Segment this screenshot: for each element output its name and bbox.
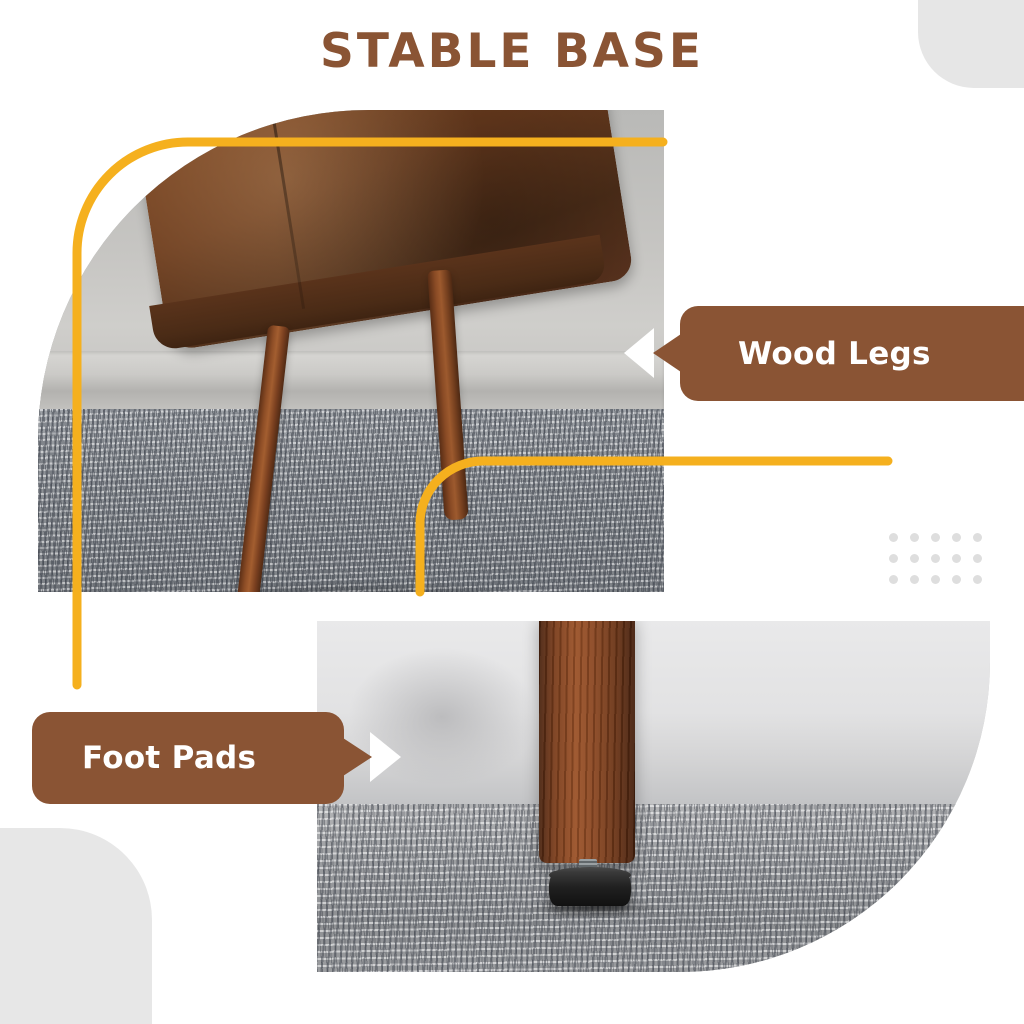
carpet-surface: [38, 409, 664, 592]
callout-foot-pads-notch: [370, 732, 401, 782]
decor-dot: [931, 575, 940, 584]
decor-dot: [952, 533, 961, 542]
callout-wood-legs[interactable]: Wood Legs: [680, 306, 1024, 401]
decor-dot: [952, 575, 961, 584]
decor-dot: [973, 575, 982, 584]
photo-chair-legs-scene: [38, 110, 664, 592]
callout-wood-legs-notch: [624, 328, 654, 378]
decor-dot-grid: [889, 533, 994, 596]
callout-foot-pads-label: Foot Pads: [82, 740, 256, 776]
decor-dot: [910, 533, 919, 542]
photo-chair-legs: [38, 110, 664, 592]
callout-wood-legs-pointer-icon: [653, 334, 681, 372]
decor-dot: [889, 575, 898, 584]
carpet-surface-closeup: [317, 804, 990, 972]
wood-grain-texture: [539, 621, 635, 863]
decor-dot: [910, 575, 919, 584]
page-title: STABLE BASE: [0, 24, 1024, 79]
decor-dot: [952, 554, 961, 563]
foot-pad-black-disc: [549, 872, 631, 906]
decor-dot: [889, 554, 898, 563]
callout-foot-pads-pointer-icon: [343, 738, 372, 776]
decor-dot: [973, 533, 982, 542]
decor-dot: [889, 533, 898, 542]
photo-foot-pad: [317, 621, 990, 972]
decor-dot: [973, 554, 982, 563]
decor-dot: [931, 554, 940, 563]
decor-shape-bottom-left: [0, 828, 152, 1024]
decor-dot: [910, 554, 919, 563]
callout-foot-pads[interactable]: Foot Pads: [32, 712, 344, 804]
callout-wood-legs-label: Wood Legs: [738, 336, 931, 372]
decor-dot: [931, 533, 940, 542]
infographic-canvas: STABLE BASE: [0, 0, 1024, 1024]
